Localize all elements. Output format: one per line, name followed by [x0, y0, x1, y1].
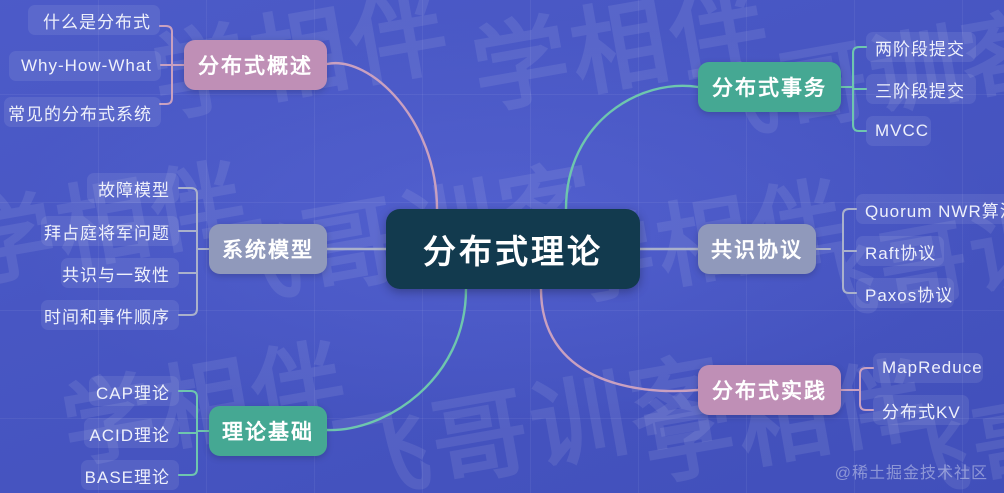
leaf-node-label: 拜占庭将军问题 [44, 219, 170, 244]
root-node[interactable]: 分布式理论 [386, 209, 640, 289]
branch-node-distributed-transaction[interactable]: 分布式事务 [698, 62, 841, 112]
leaf-node-label: 两阶段提交 [875, 35, 965, 60]
leaf-node-distributed-overview-1[interactable]: Why-How-What [9, 51, 161, 81]
trunk-distributed-practice [541, 289, 698, 391]
leaf-node-label: 共识与一致性 [62, 261, 170, 286]
root-node-label: 分布式理论 [423, 225, 603, 273]
leaf-node-label: 常见的分布式系统 [8, 100, 152, 125]
branch-node-label: 共识协议 [711, 234, 803, 264]
leaf-node-consensus-protocol-0[interactable]: Quorum NWR算法 [856, 194, 1004, 224]
leaf-node-label: 故障模型 [98, 176, 170, 201]
leaf-node-label: Quorum NWR算法 [865, 197, 1004, 222]
leaf-node-distributed-overview-0[interactable]: 什么是分布式 [28, 5, 160, 35]
branch-node-system-model[interactable]: 系统模型 [209, 224, 327, 274]
trunk-distributed-transaction [566, 86, 698, 209]
leaf-node-system-model-3[interactable]: 时间和事件顺序 [41, 300, 179, 330]
bracket-distributed-overview [160, 26, 184, 104]
mindmap-canvas: 学相伴学相伴飞哥训客学相伴飞哥训客学相伴飞哥训客学相伴飞哥训客学相伴飞哥 [0, 0, 1004, 493]
leaf-node-theory-basis-2[interactable]: BASE理论 [81, 460, 179, 490]
leaf-node-label: ACID理论 [89, 421, 170, 446]
leaf-node-label: 时间和事件顺序 [44, 303, 170, 328]
trunk-distributed-overview [327, 63, 437, 209]
leaf-node-distributed-practice-0[interactable]: MapReduce [873, 353, 983, 383]
leaf-node-distributed-practice-1[interactable]: 分布式KV [873, 395, 969, 425]
leaf-node-theory-basis-0[interactable]: CAP理论 [89, 376, 179, 406]
branch-node-distributed-overview[interactable]: 分布式概述 [184, 40, 327, 90]
leaf-node-theory-basis-1[interactable]: ACID理论 [84, 418, 179, 448]
branch-node-label: 分布式实践 [712, 375, 827, 405]
leaf-node-distributed-overview-2[interactable]: 常见的分布式系统 [4, 97, 161, 127]
background-watermark-glyph-8: 飞哥训客 [321, 318, 739, 493]
branch-node-consensus-protocol[interactable]: 共识协议 [698, 224, 816, 274]
branch-node-theory-basis[interactable]: 理论基础 [209, 406, 327, 456]
leaf-node-system-model-0[interactable]: 故障模型 [87, 173, 179, 203]
branch-node-label: 分布式事务 [712, 72, 827, 102]
bracket-distributed-practice [841, 368, 873, 410]
leaf-node-label: Paxos协议 [865, 281, 953, 306]
trunk-theory-basis [327, 289, 466, 430]
leaf-node-label: CAP理论 [96, 379, 170, 404]
branch-node-label: 系统模型 [222, 234, 314, 264]
leaf-node-label: 三阶段提交 [875, 77, 965, 102]
leaf-node-system-model-2[interactable]: 共识与一致性 [61, 258, 179, 288]
leaf-node-consensus-protocol-1[interactable]: Raft协议 [856, 236, 944, 266]
leaf-node-label: 分布式KV [882, 398, 961, 423]
bracket-theory-basis [179, 391, 209, 475]
leaf-node-consensus-protocol-2[interactable]: Paxos协议 [856, 278, 954, 308]
leaf-node-distributed-transaction-0[interactable]: 两阶段提交 [866, 32, 976, 62]
leaf-node-label: BASE理论 [85, 463, 170, 488]
branch-node-label: 分布式概述 [198, 50, 313, 80]
leaf-node-system-model-1[interactable]: 拜占庭将军问题 [41, 216, 179, 246]
leaf-node-distributed-transaction-1[interactable]: 三阶段提交 [866, 74, 976, 104]
leaf-node-label: MVCC [875, 121, 929, 141]
branch-node-label: 理论基础 [222, 416, 314, 446]
bracket-distributed-transaction [841, 47, 866, 131]
leaf-node-distributed-transaction-2[interactable]: MVCC [866, 116, 931, 146]
branch-node-distributed-practice[interactable]: 分布式实践 [698, 365, 841, 415]
leaf-node-label: Raft协议 [865, 239, 936, 264]
leaf-node-label: Why-How-What [21, 56, 152, 76]
bracket-consensus-protocol [816, 209, 856, 293]
leaf-node-label: 什么是分布式 [43, 8, 151, 33]
bracket-system-model [179, 188, 209, 315]
leaf-node-label: MapReduce [882, 358, 983, 378]
watermark-credit: @稀土掘金技术社区 [835, 459, 988, 483]
